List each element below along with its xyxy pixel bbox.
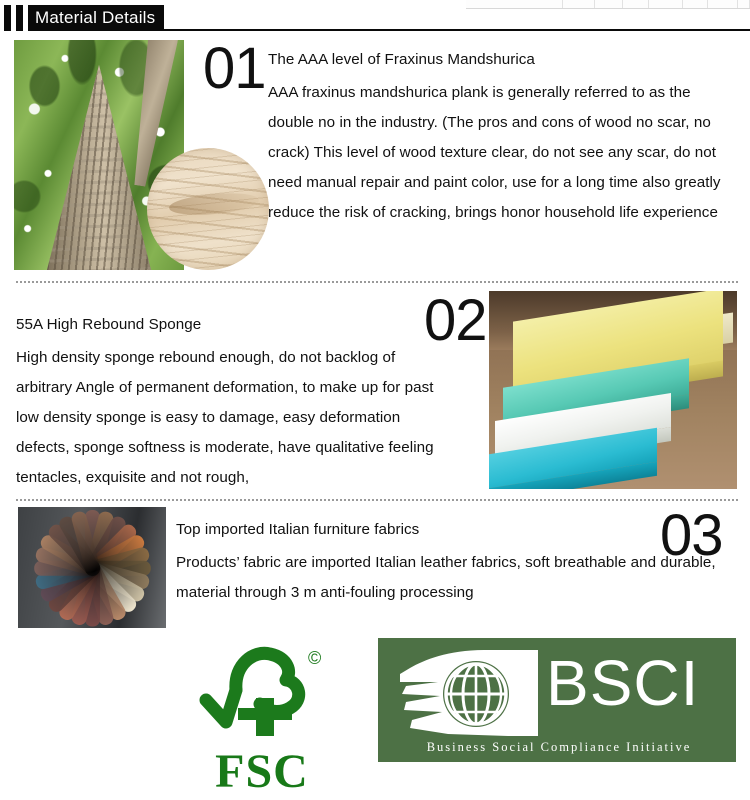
fsc-wordmark: FSC xyxy=(202,748,322,796)
fsc-logo: © FSC xyxy=(176,638,336,796)
copyright-mark: © xyxy=(308,648,321,668)
fsc-tree-trunk-shape xyxy=(238,698,292,736)
page-header: Material Details xyxy=(0,5,750,31)
fsc-tree-checkmark-icon: © xyxy=(176,638,336,758)
section-02-foam-photo xyxy=(489,291,737,489)
section-divider xyxy=(16,499,738,501)
section-03-leather-fan-photo xyxy=(18,507,166,628)
material-details-page: Material Details 01 The AAA level of Fra… xyxy=(0,0,750,800)
bsci-logo: BSCI Business Social Compliance Initiati… xyxy=(378,638,736,762)
header-accent-bar-icon xyxy=(4,5,11,31)
section-02-body: High density sponge rebound enough, do n… xyxy=(16,343,454,493)
page-title: Material Details xyxy=(28,5,164,31)
section-03-text: Top imported Italian furniture fabrics xyxy=(176,515,676,545)
section-01-number: 01 xyxy=(203,40,266,98)
bsci-tagline: Business Social Compliance Initiative xyxy=(394,740,724,755)
section-02-text: 55A High Rebound Sponge xyxy=(16,310,436,340)
section-01-body: AAA fraxinus mandshurica plank is genera… xyxy=(268,78,740,228)
section-03-body: Products’ fabric are imported Italian le… xyxy=(176,548,742,608)
header-rule xyxy=(28,29,750,31)
section-01-text: The AAA level of Fraxinus Mandshurica xyxy=(268,45,738,75)
section-01-title: The AAA level of Fraxinus Mandshurica xyxy=(268,45,738,75)
section-02-title: 55A High Rebound Sponge xyxy=(16,310,436,340)
bsci-hand-globe-icon xyxy=(388,644,548,748)
wood-grain-swatch xyxy=(147,148,269,270)
header-accent-bar-icon xyxy=(16,5,23,31)
bsci-wordmark: BSCI xyxy=(546,648,699,718)
section-03-title: Top imported Italian furniture fabrics xyxy=(176,515,676,545)
section-divider xyxy=(16,281,738,283)
